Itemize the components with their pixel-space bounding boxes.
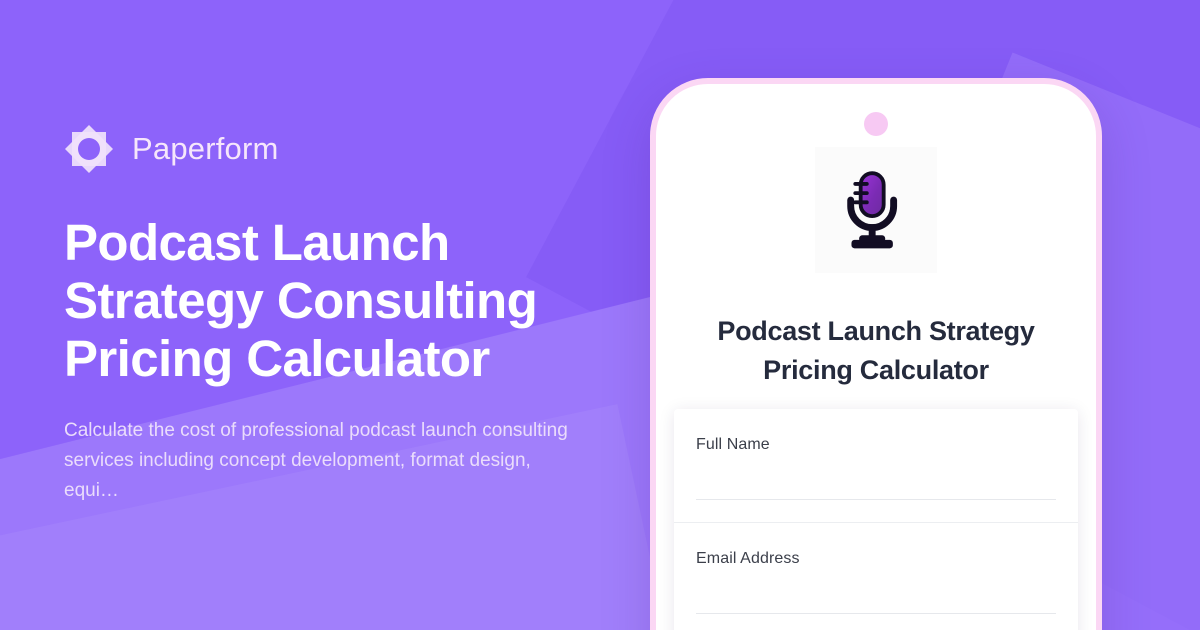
field-label-full-name: Full Name — [696, 436, 1056, 454]
paperform-flower-logo-icon — [64, 124, 114, 174]
form-field-full-name[interactable]: Full Name — [674, 409, 1078, 523]
hero-text-column: Paperform Podcast Launch Strategy Consul… — [64, 0, 664, 630]
brand-lockup: Paperform — [64, 124, 664, 174]
email-address-input[interactable] — [696, 613, 1056, 614]
og-share-card: Paperform Podcast Launch Strategy Consul… — [0, 0, 1200, 630]
phone-mockup: Podcast Launch Strategy Pricing Calculat… — [650, 78, 1102, 630]
camera-dot-icon — [864, 112, 888, 136]
form-title: Podcast Launch Strategy Pricing Calculat… — [656, 312, 1096, 390]
page-title: Podcast Launch Strategy Consulting Prici… — [64, 214, 584, 388]
brand-name: Paperform — [132, 131, 279, 167]
microphone-icon — [815, 147, 937, 273]
field-label-email-address: Email Address — [696, 550, 1056, 568]
form-field-email-address[interactable]: Email Address — [674, 523, 1078, 630]
page-subtitle: Calculate the cost of professional podca… — [64, 416, 584, 506]
full-name-input[interactable] — [696, 499, 1056, 500]
form-card: Full Name Email Address — [674, 409, 1078, 630]
